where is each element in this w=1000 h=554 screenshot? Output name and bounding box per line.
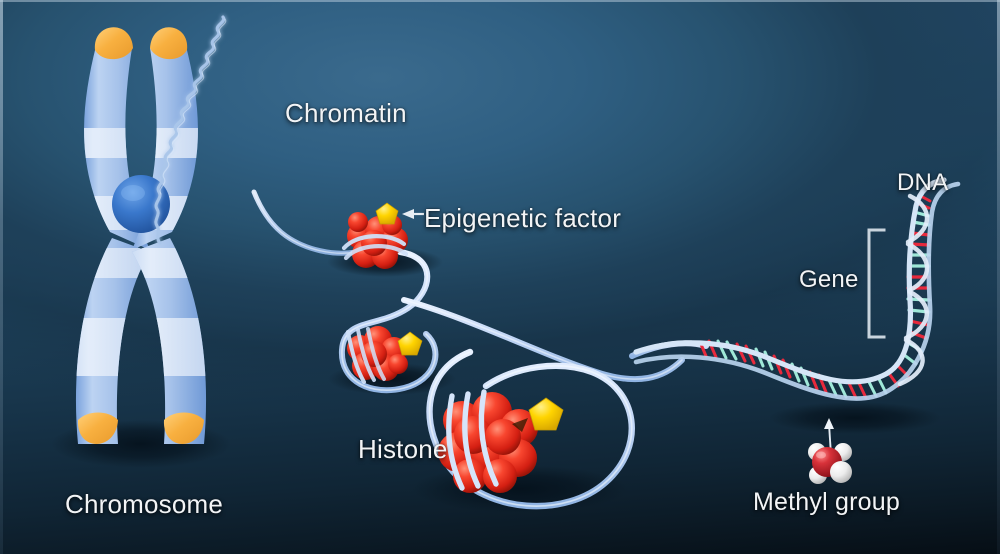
label-methyl-group: Methyl group	[753, 488, 900, 517]
telomere-cap-top-right	[150, 27, 187, 59]
frame-edge-top	[0, 0, 1000, 2]
frame-edge-left	[0, 0, 3, 554]
label-histone: Histone	[358, 434, 448, 465]
label-chromatin: Chromatin	[285, 98, 407, 129]
histone-beads	[347, 326, 408, 381]
gene-bracket	[869, 230, 884, 337]
dna-double-helix	[632, 180, 958, 399]
chromosome	[55, 27, 230, 444]
telomere-cap-top-left	[95, 27, 133, 59]
hydrogen-atom-4	[830, 461, 852, 483]
epigenetic-factor-pentagon-bottom	[529, 398, 563, 430]
label-chromosome: Chromosome	[65, 489, 223, 520]
diagram-canvas: Chromatin Epigenetic factor Histone Chro…	[0, 0, 1000, 554]
label-gene: Gene	[799, 266, 859, 294]
epigenetic-factor-pointer	[402, 209, 424, 219]
epigenetic-factor-pentagon-middle	[398, 332, 422, 355]
label-dna: DNA	[897, 169, 948, 197]
chromatin-transition	[254, 192, 356, 253]
epigenetic-factor-pentagon-top	[376, 203, 398, 224]
label-epigenetic-factor: Epigenetic factor	[424, 203, 621, 234]
